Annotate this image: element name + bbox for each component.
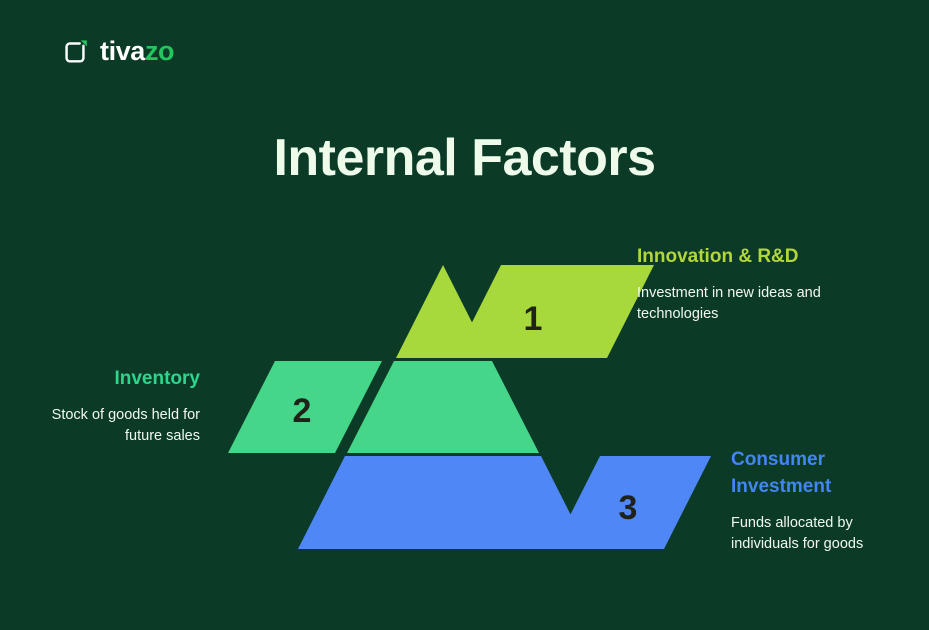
slide-canvas: tivazo Internal Factors 1 2 3 Innovation… xyxy=(0,0,929,630)
pyramid-tier-2[interactable]: 2 xyxy=(228,361,539,453)
callout-innovation-rd: Innovation & R&D Investment in new ideas… xyxy=(637,244,825,325)
pyramid-tier-1[interactable]: 1 xyxy=(396,265,654,358)
tier-2-number: 2 xyxy=(293,392,312,430)
callout-1-description: Investment in new ideas and technologies xyxy=(637,283,825,325)
tier-1-parallelogram[interactable] xyxy=(454,265,654,358)
callout-2-title: Inventory xyxy=(20,366,200,393)
tier-2-trapezoid[interactable] xyxy=(347,361,539,453)
tier-3-trapezoid[interactable] xyxy=(298,456,588,549)
pyramid-tier-3[interactable]: 3 xyxy=(298,456,711,549)
tier-1-number: 1 xyxy=(524,300,543,338)
callout-inventory: Inventory Stock of goods held for future… xyxy=(20,366,200,447)
callout-2-description: Stock of goods held for future sales xyxy=(20,405,200,447)
callout-3-title: Consumer Investment xyxy=(731,447,921,501)
callout-consumer-investment: Consumer Investment Funds allocated by i… xyxy=(731,447,921,555)
callout-3-description: Funds allocated by individuals for goods xyxy=(731,513,921,555)
tier-3-number: 3 xyxy=(619,489,638,527)
callout-1-title: Innovation & R&D xyxy=(637,244,825,271)
